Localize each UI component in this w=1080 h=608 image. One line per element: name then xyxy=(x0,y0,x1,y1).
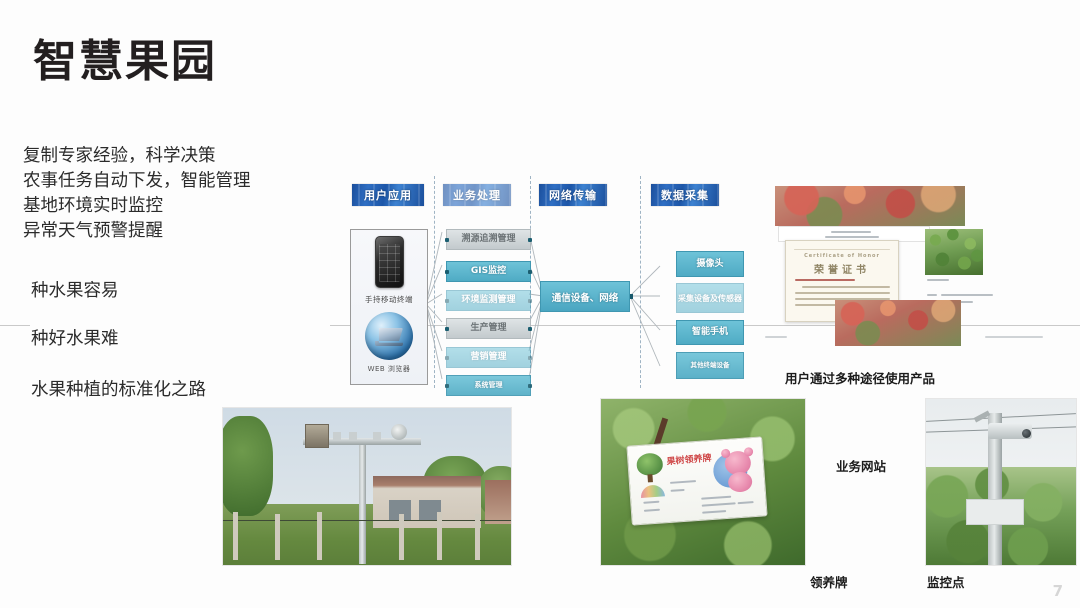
connector-dot xyxy=(528,238,532,242)
business-box-traceability[interactable]: 溯源追溯管理 xyxy=(446,229,531,250)
connector-dot xyxy=(528,270,532,274)
pole-sign xyxy=(966,499,1024,525)
photo-weather-station xyxy=(222,407,512,566)
business-box-label: 营销管理 xyxy=(470,352,506,363)
connector-dot xyxy=(528,327,532,331)
page-number: 7 xyxy=(1053,582,1063,600)
photo-web-collage-top xyxy=(775,186,965,226)
column-divider-1 xyxy=(434,176,435,388)
photo-adoption-sign: 果树领养牌 xyxy=(600,398,806,566)
statement-easy: 种水果容易 xyxy=(31,277,119,302)
connector-dot xyxy=(445,238,449,242)
business-box-production[interactable]: 生产管理 xyxy=(446,318,531,339)
network-equipment-box[interactable]: 通信设备、网络 xyxy=(540,281,630,312)
connector-dot xyxy=(445,384,449,388)
adoption-card-title: 果树领养牌 xyxy=(666,451,712,468)
business-box-label: 系统管理 xyxy=(475,380,503,391)
network-box-label: 通信设备、网络 xyxy=(552,290,619,304)
camera-lens-icon xyxy=(1022,429,1031,438)
column-header-label: 业务处理 xyxy=(453,187,501,203)
connector-dot xyxy=(445,299,449,303)
business-box-gis-monitor[interactable]: GIS监控 xyxy=(446,261,531,282)
business-box-label: GIS监控 xyxy=(471,266,506,277)
bullet-line: 农事任务自动下发，智能管理 xyxy=(23,169,323,194)
business-box-label: 环境监测管理 xyxy=(461,295,515,306)
mobile-phone-icon xyxy=(375,236,404,288)
acquisition-box-other-devices[interactable]: 其他终端设备 xyxy=(676,352,744,379)
column-header-label: 网络传输 xyxy=(549,187,597,203)
adoption-card: 果树领养牌 xyxy=(626,436,767,525)
web-collage-side-caption xyxy=(925,276,985,286)
column-header-user-application: 用户应用 xyxy=(352,184,424,206)
business-box-marketing[interactable]: 营销管理 xyxy=(446,347,531,368)
browser-label: WEB 浏览器 xyxy=(351,364,427,374)
photo-web-collage-side xyxy=(925,229,983,275)
acquisition-box-label: 智能手机 xyxy=(692,327,728,338)
acquisition-box-label: 采集设备及传感器 xyxy=(678,293,742,304)
user-application-panel: 手持移动终端 WEB 浏览器 xyxy=(350,229,428,385)
connector-dot xyxy=(445,356,449,360)
caption-products: 用户通过多种途径使用产品 xyxy=(785,368,935,387)
column-header-network-transmission: 网络传输 xyxy=(539,184,607,206)
slide-canvas: 智慧果园 复制专家经验，科学决策 农事任务自动下发，智能管理 基地环境实时监控 … xyxy=(0,0,1080,608)
connector-dot xyxy=(445,327,449,331)
bullet-line: 异常天气预警提醒 xyxy=(23,219,323,244)
column-header-label: 数据采集 xyxy=(661,187,709,203)
tree-icon xyxy=(636,452,663,476)
page-title: 智慧果园 xyxy=(33,25,217,89)
business-box-label: 溯源追溯管理 xyxy=(461,234,515,245)
bullet-line: 复制专家经验，科学决策 xyxy=(23,144,323,169)
collage-rule-left xyxy=(765,336,787,338)
acquisition-box-sensors[interactable]: 采集设备及传感器 xyxy=(676,283,744,313)
column-header-label: 用户应用 xyxy=(364,187,412,203)
business-box-system[interactable]: 系统管理 xyxy=(446,375,531,396)
column-header-data-acquisition: 数据采集 xyxy=(651,184,719,206)
caption-adoption-card: 领养牌 xyxy=(810,572,848,591)
bullet-line: 基地环境实时监控 xyxy=(23,194,323,219)
photo-web-collage-bottom xyxy=(835,300,961,346)
connector-dot xyxy=(528,384,532,388)
acquisition-box-smartphone[interactable]: 智能手机 xyxy=(676,320,744,345)
baseline-left-stub xyxy=(0,325,30,326)
web-browser-icon xyxy=(365,312,413,360)
terminal-label: 手持移动终端 xyxy=(351,294,427,305)
statement-standardization: 水果种植的标准化之路 xyxy=(31,376,206,401)
connector-dot xyxy=(445,270,449,274)
caption-website: 业务网站 xyxy=(836,456,886,475)
collage-rule-right xyxy=(985,336,1043,338)
acquisition-box-label: 摄像头 xyxy=(696,259,723,270)
connector-dot xyxy=(528,299,532,303)
connector-dot xyxy=(528,356,532,360)
bullet-list: 复制专家经验，科学决策 农事任务自动下发，智能管理 基地环境实时监控 异常天气预… xyxy=(23,144,323,244)
business-box-label: 生产管理 xyxy=(470,323,506,334)
certificate-title: 荣誉证书 xyxy=(786,261,898,276)
column-divider-3 xyxy=(640,176,641,388)
photo-camera-pole xyxy=(925,398,1077,566)
column-header-business-process: 业务处理 xyxy=(443,184,511,206)
caption-monitor-point: 监控点 xyxy=(927,572,965,591)
acquisition-box-label: 其他终端设备 xyxy=(691,360,730,371)
statement-hard: 种好水果难 xyxy=(31,325,119,350)
business-box-environment[interactable]: 环境监测管理 xyxy=(446,290,531,311)
acquisition-box-camera[interactable]: 摄像头 xyxy=(676,251,744,277)
